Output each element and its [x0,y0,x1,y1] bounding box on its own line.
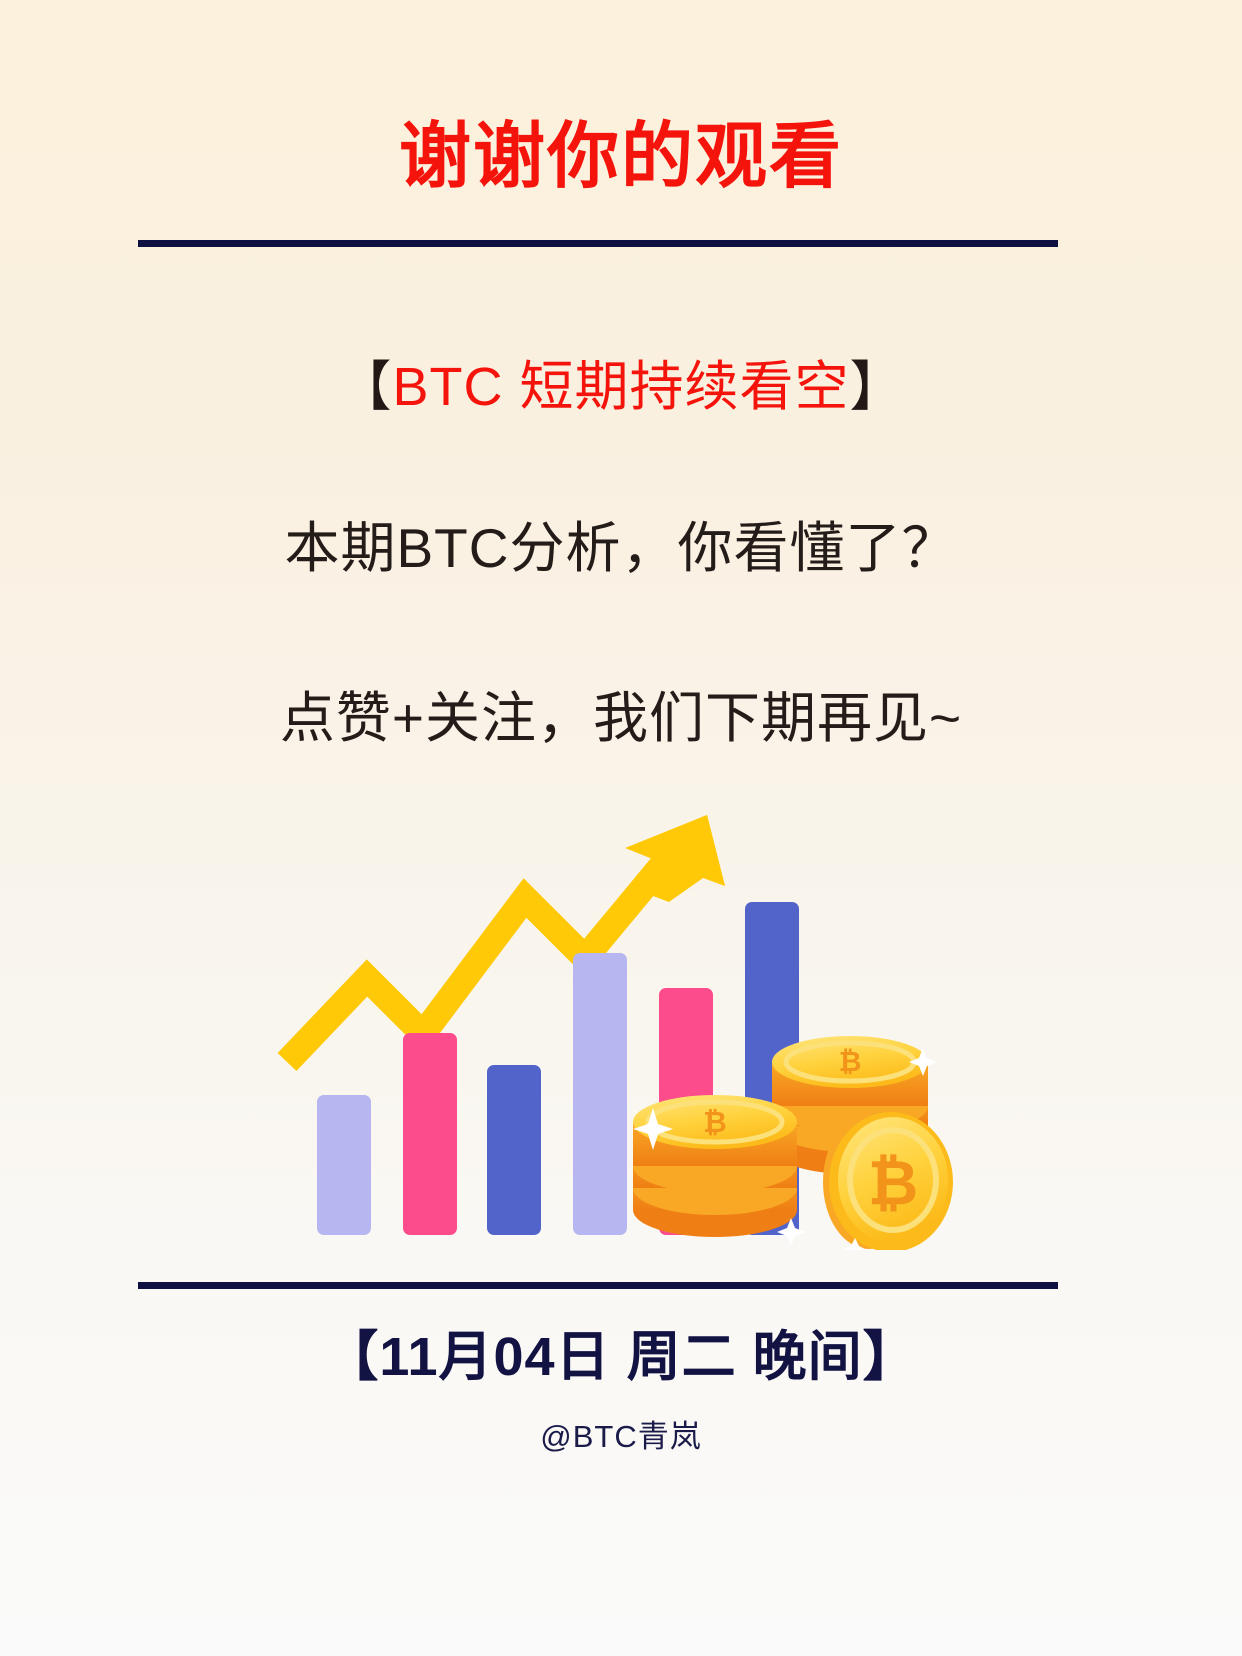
svg-text:₿: ₿ [703,1107,727,1139]
bar-4 [573,953,627,1235]
page-title: 谢谢你的观看 [0,112,1242,202]
svg-text:₿: ₿ [868,1149,919,1218]
footer-date: 【11月04日 周二 晚间】 [0,1322,1242,1392]
body-line-question: 本期BTC分析，你看懂了？ [0,512,1242,584]
bracket-close: 】 [850,357,905,417]
divider-bottom [138,1282,1058,1289]
subtitle-accent-text: BTC 短期持续看空 [392,357,849,417]
bar-3 [487,1065,541,1235]
body-line-cta: 点赞+关注，我们下期再见~ [0,682,1242,754]
bar-chart-illustration: ₿ ₿ [255,790,955,1250]
svg-text:₿: ₿ [839,1046,862,1077]
coin-stack-front: ₿ [633,1095,797,1237]
coin-front-face: ₿ [823,1112,953,1250]
bracket-open: 【 [337,357,392,417]
subtitle: 【BTC 短期持续看空】 [0,352,1242,422]
bar-2 [403,1033,457,1235]
poster-root: 谢谢你的观看 【BTC 短期持续看空】 本期BTC分析，你看懂了？ 点赞+关注，… [0,0,1242,1656]
bar-1 [317,1095,371,1235]
divider-top [138,240,1058,247]
footer-handle: @BTC青岚 [0,1415,1242,1459]
